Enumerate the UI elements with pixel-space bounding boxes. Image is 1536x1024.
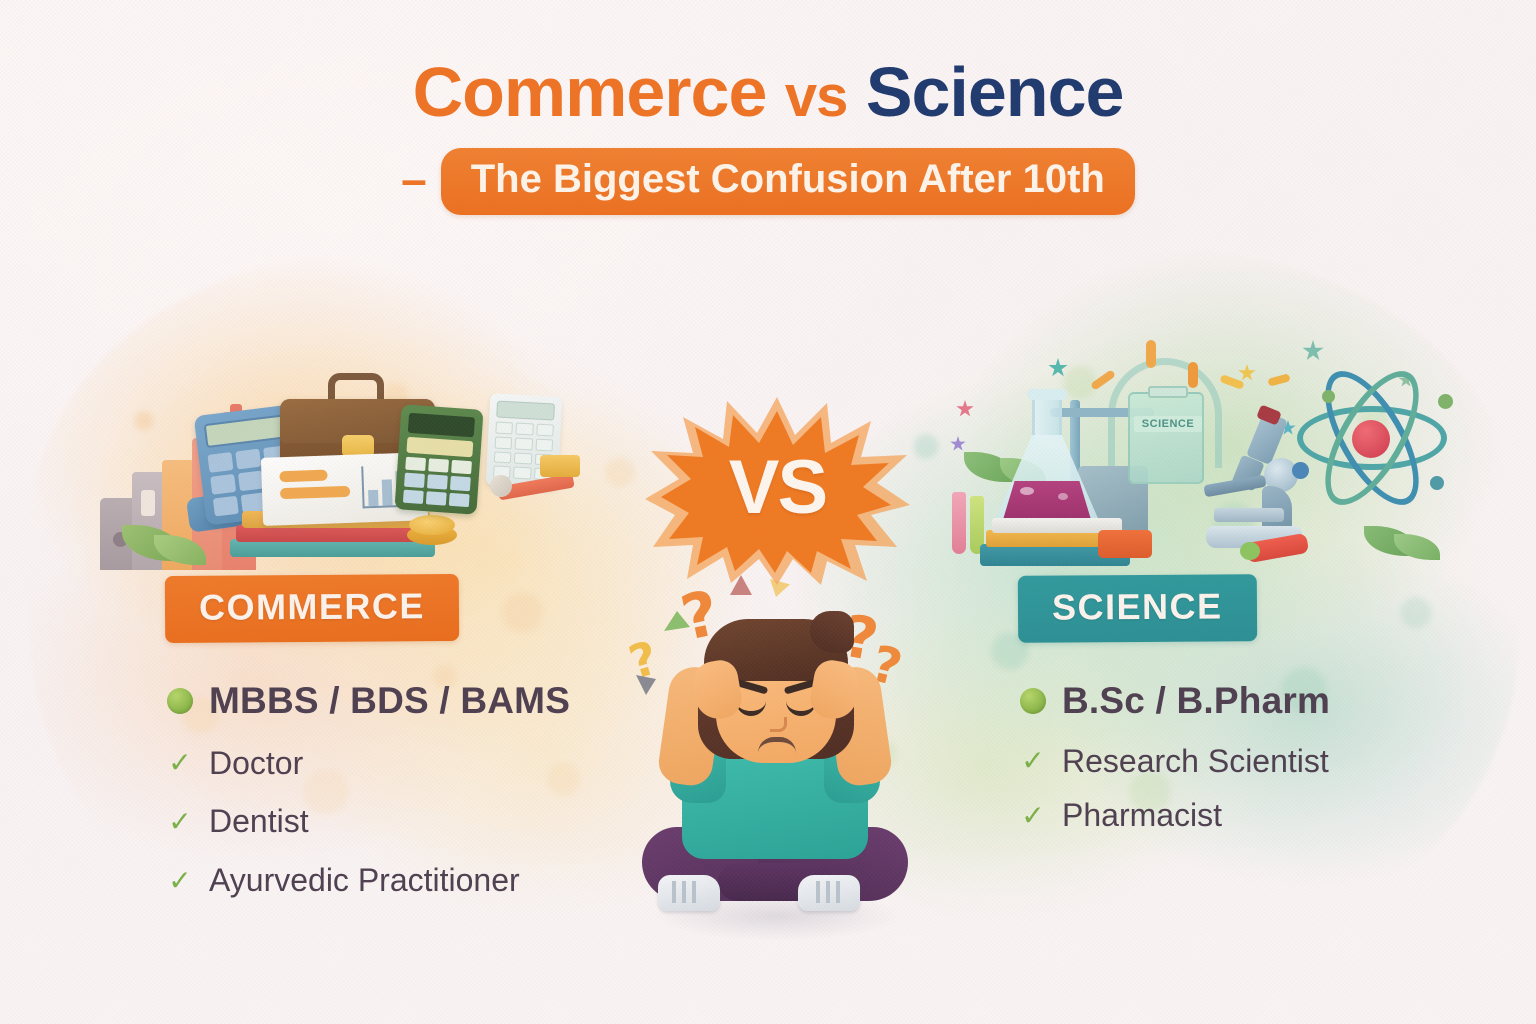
check-icon: ✓ [1018, 802, 1048, 830]
list-item: ✓ Research Scientist [1018, 743, 1418, 780]
star-icon-6 [1302, 340, 1324, 362]
confetti-dash-5 [1267, 373, 1290, 386]
list-item: ✓ Dentist [165, 803, 595, 840]
marker-cap-icon [1240, 542, 1260, 560]
gold-block-icon [540, 455, 580, 477]
commerce-panel: COMMERCE MBBS / BDS / BAMS ✓ Doctor ✓ De… [165, 575, 595, 921]
student-hair-tuft [810, 611, 854, 653]
list-item-label: Pharmacist [1062, 797, 1222, 834]
subtitle-dash: – [401, 156, 427, 202]
list-item-label: Doctor [209, 745, 303, 782]
check-icon: ✓ [165, 808, 195, 836]
list-item: B.Sc / B.Pharm [1018, 680, 1418, 723]
science-list: B.Sc / B.Pharm ✓ Research Scientist ✓ Ph… [1018, 680, 1418, 834]
confetti-dash-4 [1219, 374, 1244, 390]
orange-block-icon [1098, 530, 1152, 558]
star-icon-1 [956, 400, 974, 418]
dot-bullet-icon [1018, 688, 1048, 714]
check-icon: ✓ [165, 867, 195, 895]
science-clipboard-icon: SCIENCE [1128, 392, 1204, 484]
title-vs-word: vs [785, 64, 848, 129]
vs-badge: VS [645, 395, 910, 585]
check-icon: ✓ [165, 749, 195, 777]
confetti-dash-1 [1090, 369, 1116, 390]
confetti-dash-3 [1188, 362, 1198, 388]
list-item-label: Research Scientist [1062, 743, 1329, 780]
green-calculator-icon [394, 404, 483, 514]
page-title: Commerce vs Science [0, 56, 1536, 130]
list-item-label: B.Sc / B.Pharm [1062, 680, 1330, 723]
list-item: MBBS / BDS / BAMS [165, 680, 595, 723]
subtitle-row: – The Biggest Confusion After 10th [0, 148, 1536, 215]
title-block: Commerce vs Science – The Biggest Confus… [0, 56, 1536, 215]
science-badge: SCIENCE [1018, 574, 1257, 643]
commerce-illustration [100, 355, 580, 570]
star-icon-3 [1048, 358, 1068, 378]
list-item: ✓ Ayurvedic Practitioner [165, 862, 595, 899]
conical-flask-icon [994, 395, 1104, 525]
check-icon: ✓ [1018, 747, 1048, 775]
star-icon-4 [1238, 364, 1256, 382]
student-nose [770, 717, 787, 732]
atom-icon [1292, 370, 1452, 510]
science-illustration: SCIENCE [950, 340, 1430, 575]
confetti-dash-2 [1146, 340, 1156, 368]
star-icon-2 [950, 436, 966, 452]
title-commerce-word: Commerce [413, 53, 767, 131]
vs-label: VS [645, 395, 910, 585]
commerce-badge: COMMERCE [165, 574, 459, 643]
infographic-canvas: Commerce vs Science – The Biggest Confus… [0, 0, 1536, 1024]
gold-coins-icon [407, 515, 457, 545]
list-item-label: Dentist [209, 803, 309, 840]
clipboard-science-label: SCIENCE [1134, 416, 1202, 432]
student-shoe-left [658, 875, 720, 911]
list-item: ✓ Pharmacist [1018, 797, 1418, 834]
title-science-word: Science [866, 53, 1124, 131]
list-item: ✓ Doctor [165, 745, 595, 782]
subtitle-banner: The Biggest Confusion After 10th [441, 148, 1135, 215]
science-panel: SCIENCE B.Sc / B.Pharm ✓ Research Scient… [1018, 575, 1418, 852]
green-leaf-icon-6 [1394, 534, 1440, 560]
list-item-label: Ayurvedic Practitioner [209, 862, 520, 899]
commerce-list: MBBS / BDS / BAMS ✓ Doctor ✓ Dentist ✓ A… [165, 680, 595, 899]
student-shoe-right [798, 875, 860, 911]
list-item-label: MBBS / BDS / BAMS [209, 680, 570, 723]
dot-bullet-icon [165, 688, 195, 714]
confused-student-illustration: ? ? ? ? [620, 575, 930, 955]
